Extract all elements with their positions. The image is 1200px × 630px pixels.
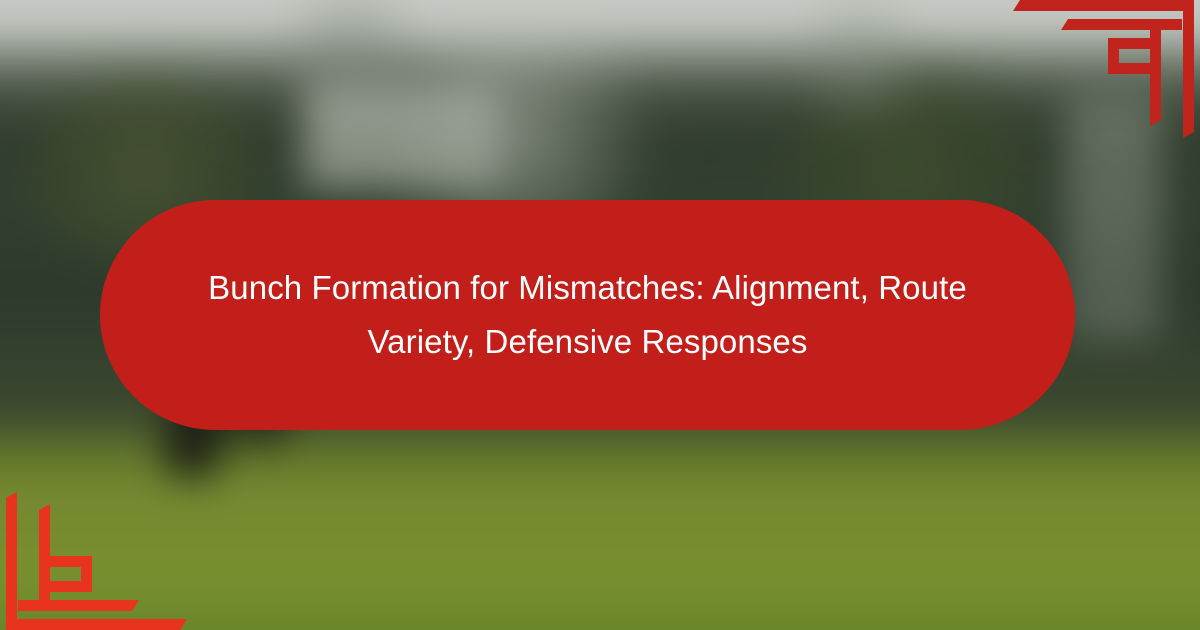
title-banner: Bunch Formation for Mismatches: Alignmen… [100,200,1075,430]
background-structure [303,87,499,188]
corner-ornament-bottom-left-icon [0,485,200,630]
page-title: Bunch Formation for Mismatches: Alignmen… [193,261,983,370]
social-card: Bunch Formation for Mismatches: Alignmen… [0,0,1200,630]
corner-ornament-top-right-icon [1000,0,1200,145]
